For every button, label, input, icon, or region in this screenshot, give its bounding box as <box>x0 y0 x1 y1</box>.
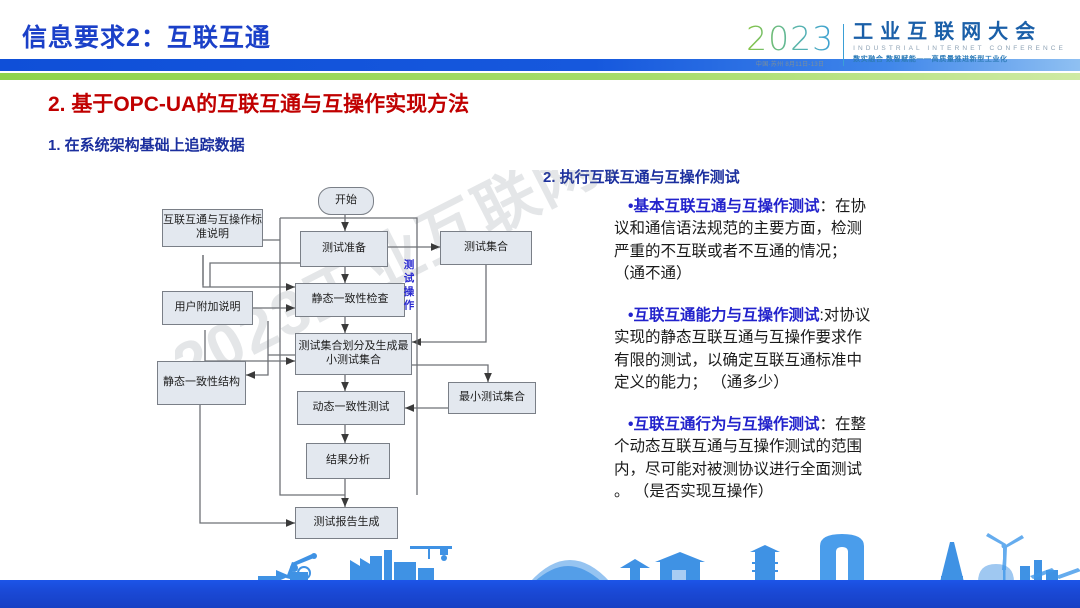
logo-divider <box>843 24 844 66</box>
logo-date: 中国·苏州 8月11日-13日 <box>756 59 824 68</box>
bullet-text-line: 对协议 <box>824 307 871 324</box>
bullet-item: •互联互通能力与互操作测试:对协议 实现的静态互联互通与互操作要求作 有限的测试… <box>628 305 980 395</box>
bullet-colon: ： <box>819 416 835 433</box>
flow-node-analysis: 结果分析 <box>306 443 390 479</box>
flow-node-start: 开始 <box>318 187 374 215</box>
logo-year-block: 2023 中国·苏州 8月11日-13日 <box>746 22 843 68</box>
header-rule-green <box>0 73 1080 80</box>
logo-name-en: INDUSTRIAL INTERNET CONFERENCE <box>853 45 1066 52</box>
left-sub-heading: 1. 在系统架构基础上追踪数据 <box>48 134 245 155</box>
flow-node-partition: 测试集合划分及生成最小测试集合 <box>295 333 412 375</box>
logo-year: 2023 <box>746 22 834 55</box>
bullet-heading: 基本互联互通与互操作测试 <box>633 198 819 215</box>
flow-node-staticstruct: 静态一致性结构 <box>157 361 246 405</box>
flow-node-dynamic: 动态一致性测试 <box>297 391 405 425</box>
bullet-text-line: （通不通） <box>614 263 980 285</box>
flowchart-vertical-label: 测试操作 <box>402 259 413 313</box>
bullet-heading: 互联互通行为与互操作测试 <box>633 416 819 433</box>
bullet-heading: 互联互通能力与互操作测试 <box>633 307 819 324</box>
slide-root: 信息要求2：互联互通 2023 中国·苏州 8月11日-13日 工业互联网大会 … <box>0 0 1080 608</box>
logo-slogan: 数实融合 数智赋能——高质量推进新型工业化 <box>853 54 1066 64</box>
bullet-text-line: 议和通信语法规范的主要方面，检测 <box>614 218 980 240</box>
flowchart: 开始 互联互通与互操作标准说明 测试准备 测试集合 用户附加说明 静态一致性检查… <box>140 175 560 545</box>
conference-logo: 2023 中国·苏州 8月11日-13日 工业互联网大会 INDUSTRIAL … <box>746 22 1066 68</box>
flow-node-testset: 测试集合 <box>440 231 532 265</box>
skyline-icon <box>0 532 1080 584</box>
footer-decoration <box>0 536 1080 608</box>
logo-text-block: 工业互联网大会 INDUSTRIAL INTERNET CONFERENCE 数… <box>853 22 1066 64</box>
bullet-text-line: 在协 <box>835 198 866 215</box>
flow-node-minset: 最小测试集合 <box>448 382 536 414</box>
bullet-list: •基本互联互通与互操作测试：在协 议和通信语法规范的主要方面，检测 严重的不互联… <box>628 196 980 523</box>
bullet-text-line: 有限的测试，以确定互联互通标准中 <box>614 350 980 372</box>
main-heading: 2. 基于OPC-UA的互联互通与互操作实现方法 <box>48 88 469 118</box>
bullet-item: •基本互联互通与互操作测试：在协 议和通信语法规范的主要方面，检测 严重的不互联… <box>628 196 980 286</box>
bullet-text-line: 在整 <box>835 416 866 433</box>
logo-name-cn: 工业互联网大会 <box>853 22 1066 43</box>
bullet-text-line: 实现的静态互联互通与互操作要求作 <box>614 327 980 349</box>
bullet-item: •互联互通行为与互操作测试：在整 个动态互联互通与互操作测试的范围 内，尽可能对… <box>628 414 980 504</box>
bullet-text-line: 定义的能力； （通多少） <box>614 372 980 394</box>
bullet-text-line: 内，尽可能对被测协议进行全面测试 <box>614 459 980 481</box>
bullet-text-line: 个动态互联互通与互操作测试的范围 <box>614 436 980 458</box>
bullet-text-line: 严重的不互联或者不互通的情况； <box>614 241 980 263</box>
flow-node-staticchk: 静态一致性检查 <box>295 283 405 317</box>
bullet-text-line: 。 （是否实现互操作） <box>614 481 980 503</box>
right-sub-heading: 2. 执行互联互通与互操作测试 <box>543 166 740 187</box>
flow-node-spec: 互联互通与互操作标准说明 <box>162 209 263 247</box>
flow-node-prepare: 测试准备 <box>300 231 388 267</box>
footer-water-band <box>0 580 1080 608</box>
page-title: 信息要求2：互联互通 <box>22 18 271 54</box>
bullet-colon: ： <box>819 198 835 215</box>
flow-node-userdesc: 用户附加说明 <box>162 291 253 325</box>
